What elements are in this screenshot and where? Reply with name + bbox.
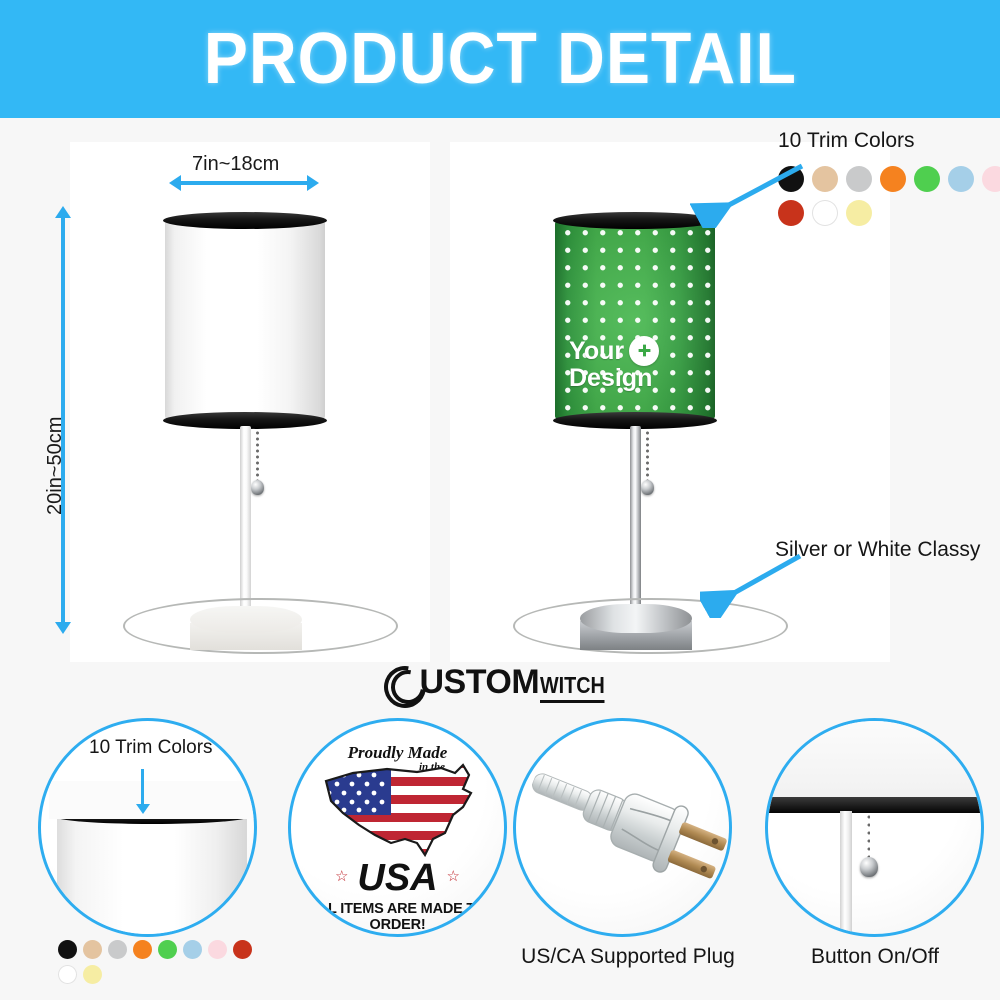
- lamp-base-top: [580, 604, 692, 633]
- lamp-white: [130, 198, 390, 648]
- plug-caption: US/CA Supported Plug: [503, 945, 753, 969]
- pull-chain-closeup: [867, 813, 869, 861]
- feature-trim-colors: 10 Trim Colors: [38, 718, 263, 943]
- lamp-base-silver: [580, 604, 692, 650]
- base-finish-arrow: [700, 548, 810, 618]
- design-line-2: Design: [569, 364, 707, 393]
- trim-color-swatch-black[interactable]: [58, 940, 77, 959]
- trim-band-closeup: [765, 797, 984, 813]
- usa-footer-text: ALL ITEMS ARE MADE TO ORDER!: [291, 901, 504, 933]
- trim-colors-label-top: 10 Trim Colors: [778, 129, 915, 153]
- feature-made-in-usa: Proudly Made in the: [288, 718, 513, 943]
- product-detail-page: PRODUCT DETAIL 7in~18cm 20in~50cm: [0, 0, 1000, 1000]
- trim-color-swatch-light-blue[interactable]: [183, 940, 202, 959]
- trim-color-swatch-tan[interactable]: [83, 940, 102, 959]
- lamp-base-white: [190, 606, 302, 650]
- trim-color-swatch-yellow[interactable]: [83, 965, 102, 984]
- lamp-pole-closeup: [840, 811, 852, 937]
- usa-badge: Proudly Made in the: [291, 721, 504, 934]
- trim-color-swatch-green[interactable]: [158, 940, 177, 959]
- main-stage: 7in~18cm 20in~50cm: [0, 118, 1000, 710]
- trim-color-swatch-gray[interactable]: [846, 166, 872, 192]
- switch-caption: Button On/Off: [760, 945, 990, 969]
- pull-chain-beads: [867, 813, 870, 861]
- usa-map-flag-icon: [313, 759, 488, 864]
- pull-chain-ball: [860, 857, 878, 877]
- pull-chain-ball: [641, 480, 654, 495]
- your-design-block: Your Design: [569, 336, 707, 393]
- star-right-icon: ☆: [447, 867, 460, 885]
- trim-color-swatch-light-blue[interactable]: [948, 166, 974, 192]
- trim-color-swatch-tan[interactable]: [812, 166, 838, 192]
- plus-icon: [629, 336, 659, 366]
- feature-circle: [765, 718, 984, 937]
- lampshade-green: Your Design: [555, 220, 715, 420]
- trim-color-swatch-gray[interactable]: [108, 940, 127, 959]
- trim-band-top: [163, 212, 327, 229]
- feature-circle: Proudly Made in the: [288, 718, 507, 937]
- trim-color-swatch-orange[interactable]: [133, 940, 152, 959]
- trim-color-swatch-pink[interactable]: [208, 940, 227, 959]
- feature-circle: 10 Trim Colors: [38, 718, 257, 937]
- logo-witch-text: WITCH: [540, 672, 605, 703]
- power-plug-icon: [513, 743, 732, 911]
- design-line-1: Your: [569, 337, 624, 366]
- trim-color-swatch-white[interactable]: [812, 200, 838, 226]
- pull-chain: [646, 430, 648, 482]
- header-banner: PRODUCT DETAIL: [0, 0, 1000, 118]
- width-dimension-arrow: [180, 181, 308, 185]
- logo-moon-c-icon: [384, 666, 418, 700]
- feature-switch: Button On/Off: [765, 718, 990, 953]
- shade-bottom-closeup: [765, 718, 984, 809]
- trim-color-swatch-yellow[interactable]: [846, 200, 872, 226]
- pull-chain-beads: [256, 430, 259, 482]
- lamp-base-top: [190, 606, 302, 633]
- trim-color-swatch-orange[interactable]: [880, 166, 906, 192]
- trim-colors-arrow-bottom: [141, 769, 144, 805]
- lampshade-surface: [165, 220, 325, 420]
- pull-chain-ball: [251, 480, 264, 495]
- trim-colors-swatches-bottom: [58, 940, 273, 984]
- trim-colors-arrow-top: [690, 158, 810, 228]
- usa-word-text: USA: [291, 857, 504, 900]
- logo-custom-text: USTOM: [419, 663, 539, 702]
- page-title: PRODUCT DETAIL: [203, 18, 796, 100]
- brand-logo: USTOM WITCH: [0, 655, 1000, 710]
- height-dimension-label: 20in~50cm: [44, 417, 67, 515]
- pull-chain-beads: [646, 430, 649, 482]
- shade-closeup-white: [57, 819, 247, 937]
- plug-illustration: [513, 743, 732, 915]
- trim-color-swatch-pink[interactable]: [982, 166, 1000, 192]
- width-dimension-label: 7in~18cm: [192, 153, 279, 176]
- feature-circle: [513, 718, 732, 937]
- trim-color-swatch-green[interactable]: [914, 166, 940, 192]
- trim-color-swatch-white[interactable]: [58, 965, 77, 984]
- lampshade-white: [165, 220, 325, 420]
- trim-color-swatch-red[interactable]: [233, 940, 252, 959]
- feature-plug: US/CA Supported Plug: [513, 718, 748, 953]
- trim-colors-label-bottom: 10 Trim Colors: [89, 737, 213, 759]
- trim-colors-swatches-top: [778, 166, 1000, 226]
- pull-chain: [256, 430, 258, 482]
